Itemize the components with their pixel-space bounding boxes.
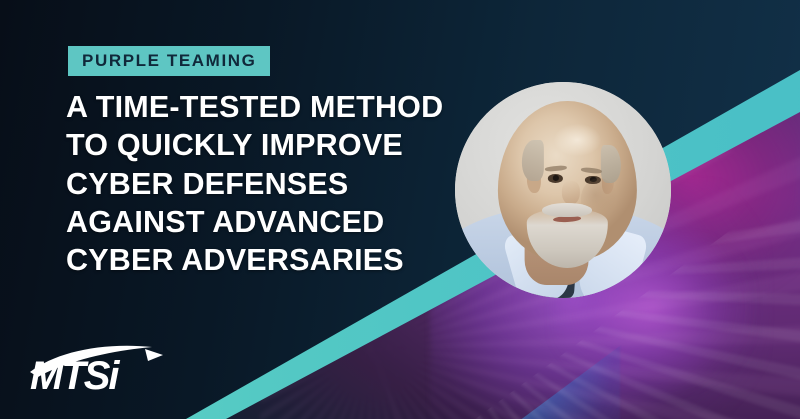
eyebrow-badge: PURPLE TEAMING bbox=[68, 46, 270, 76]
portrait-moustache bbox=[542, 203, 592, 217]
headline: A TIME-TESTED METHOD TO QUICKLY IMPROVE … bbox=[66, 88, 486, 279]
portrait-forehead-highlight bbox=[553, 124, 600, 156]
headline-line: CYBER ADVERSARIES bbox=[66, 241, 486, 279]
mtsi-logo-mark: MTSi bbox=[28, 343, 176, 395]
portrait-nose bbox=[562, 181, 580, 205]
portrait-eyebrow-right bbox=[581, 167, 602, 175]
logo-wordmark: MTSi bbox=[30, 354, 120, 398]
portrait-hair-left bbox=[522, 140, 544, 182]
headline-line: AGAINST ADVANCED bbox=[66, 203, 486, 241]
headline-line: CYBER DEFENSES bbox=[66, 165, 486, 203]
purple-teaming-promo-banner: PURPLE TEAMING A TIME-TESTED METHOD TO Q… bbox=[0, 0, 800, 419]
headline-line: TO QUICKLY IMPROVE bbox=[66, 126, 486, 164]
mtsi-logo: MTSi bbox=[28, 343, 176, 395]
portrait-eyebrow-left bbox=[545, 165, 567, 172]
headline-line: A TIME-TESTED METHOD bbox=[66, 88, 486, 126]
speaker-portrait-avatar bbox=[455, 82, 671, 298]
portrait-eye-left bbox=[548, 174, 563, 183]
portrait-hair-right bbox=[600, 145, 621, 183]
logo-flag-icon bbox=[145, 349, 163, 361]
